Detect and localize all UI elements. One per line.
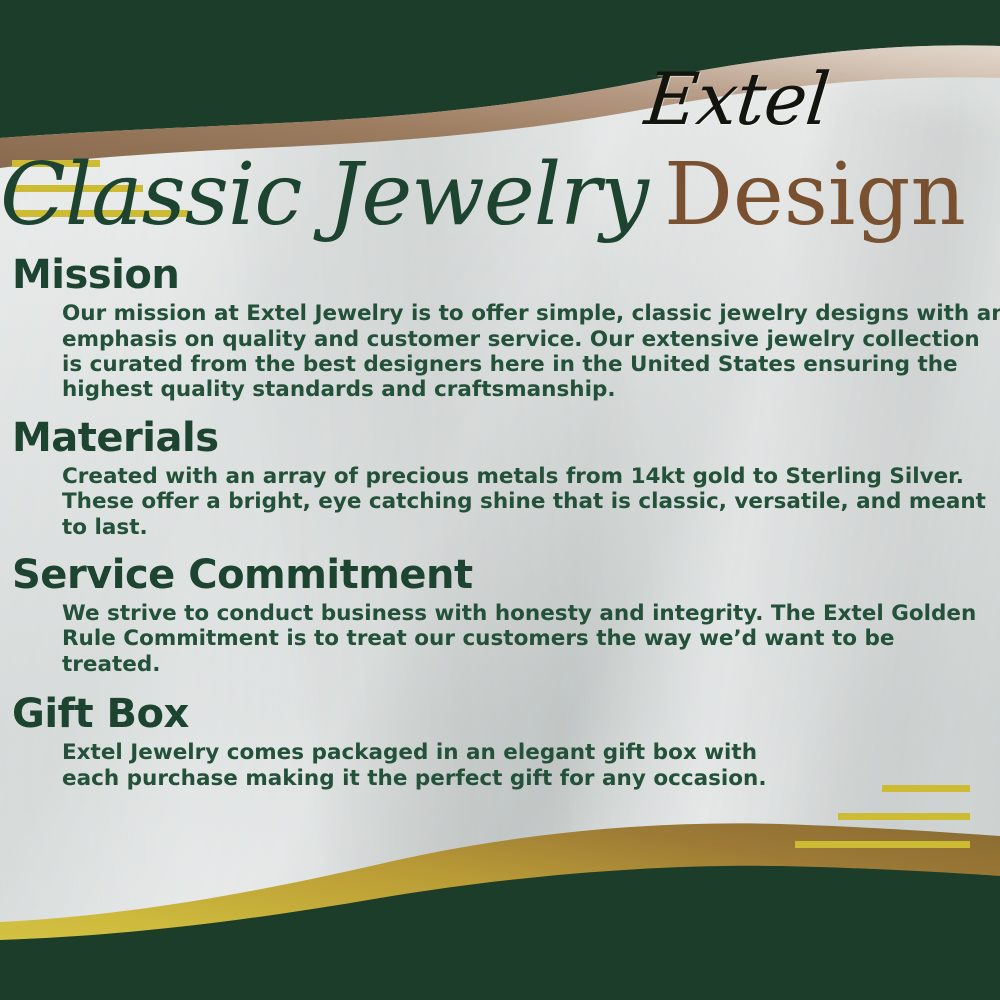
section-materials: Materials Created with an array of preci… <box>0 415 1000 540</box>
rule-line <box>795 841 970 848</box>
page-title: Classic JewelryDesign <box>0 152 960 238</box>
rule-line <box>838 813 970 820</box>
section-body-mission: Our mission at Extel Jewelry is to offer… <box>62 301 974 402</box>
section-service-commitment: Service Commitment We strive to conduct … <box>0 552 1000 677</box>
section-mission: Mission Our mission at Extel Jewelry is … <box>0 252 1000 403</box>
body-line: These offer a bright, eye catching shine… <box>62 489 974 514</box>
body-line: to last. <box>62 515 974 540</box>
body-line: treated. <box>62 652 974 677</box>
section-heading-gift-box: Gift Box <box>12 691 1000 738</box>
headline-secondary: Design <box>664 145 966 245</box>
body-line: highest quality standards and craftsmans… <box>62 377 974 402</box>
section-body-gift-box: Extel Jewelry comes packaged in an elega… <box>62 740 782 791</box>
body-line: We strive to conduct business with hones… <box>62 601 974 626</box>
headline-primary: Classic Jewelry <box>0 145 648 245</box>
body-line: Rule Commitment is to treat our customer… <box>62 626 974 651</box>
green-wave-shape <box>0 866 1000 1000</box>
body-line: Created with an array of precious metals… <box>62 464 974 489</box>
section-heading-materials: Materials <box>12 415 1000 462</box>
section-body-materials: Created with an array of precious metals… <box>62 464 974 540</box>
body-line: Our mission at Extel Jewelry is to offer… <box>62 301 974 326</box>
body-line: Extel Jewelry comes packaged in an elega… <box>62 740 782 765</box>
poster-canvas: Extel Classic JewelryDesign Mission Our … <box>0 0 1000 1000</box>
section-body-service-commitment: We strive to conduct business with hones… <box>62 601 974 677</box>
section-heading-service-commitment: Service Commitment <box>12 552 1000 599</box>
body-line: emphasis on quality and customer service… <box>62 327 974 352</box>
brand-script-logo: Extel <box>608 63 866 135</box>
body-line: each purchase making it the perfect gift… <box>62 766 782 791</box>
section-heading-mission: Mission <box>12 252 1000 299</box>
body-line: is curated from the best designers here … <box>62 352 974 377</box>
section-gift-box: Gift Box Extel Jewelry comes packaged in… <box>0 691 1000 791</box>
content-sections: Mission Our mission at Extel Jewelry is … <box>0 252 1000 801</box>
